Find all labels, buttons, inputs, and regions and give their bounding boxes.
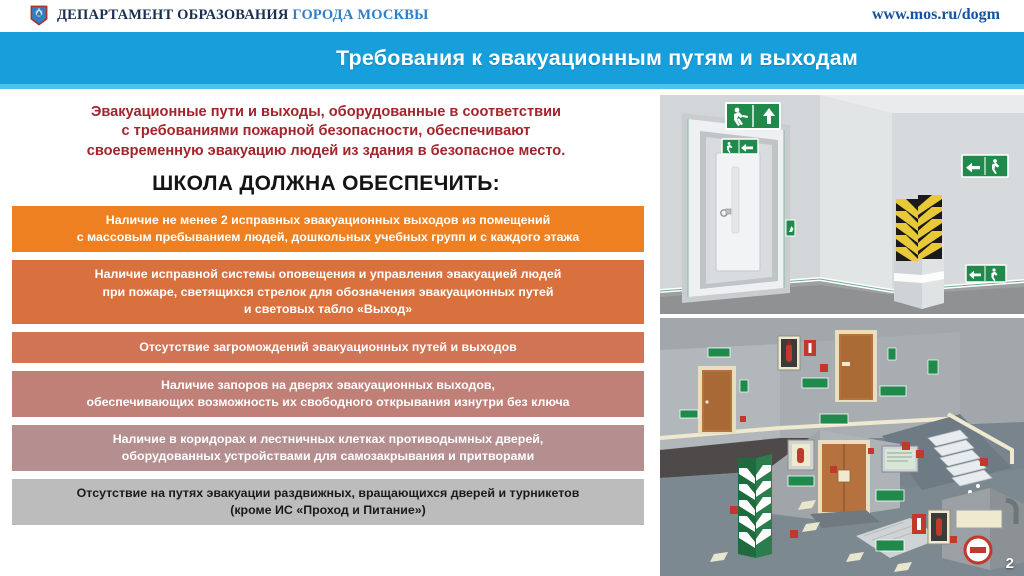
exit-sign-top	[726, 103, 780, 129]
illustration-column: 2	[660, 95, 1024, 576]
requirement-line: (кроме ИС «Проход и Питание»)	[77, 502, 580, 519]
requirement-line: обеспечивающих возможность их свободного…	[86, 394, 569, 411]
moscow-coat-of-arms-icon	[30, 5, 48, 26]
organization-name: ДЕПАРТАМЕНТ ОБРАЗОВАНИЯ ГОРОДА МОСКВЫ	[57, 7, 429, 24]
slide: ДЕПАРТАМЕНТ ОБРАЗОВАНИЯ ГОРОДА МОСКВЫ ww…	[0, 0, 1024, 576]
requirement-line: Наличие в коридорах и лестничных клетках…	[113, 431, 544, 448]
section-subheading: ШКОЛА ДОЛЖНА ОБЕСПЕЧИТЬ:	[0, 172, 652, 196]
intro-line-1: Эвакуационные пути и выходы, оборудованн…	[14, 103, 638, 122]
isometric-building-evacuation-illustration: 2	[660, 318, 1024, 576]
corridor-evacuation-exit-illustration	[660, 95, 1024, 314]
intro-line-2: с требованиями пожарной безопасности, об…	[14, 122, 638, 141]
requirements-list: Наличие не менее 2 исправных эвакуационн…	[0, 206, 652, 525]
intro-line-3: своевременную эвакуацию людей из здания …	[14, 142, 638, 161]
requirement-line: Отсутствие загромождений эвакуационных п…	[139, 339, 517, 356]
requirement-line: с массовым пребыванием людей, дошкольных…	[77, 229, 580, 246]
requirement-line: Отсутствие на путях эвакуации раздвижных…	[77, 485, 580, 502]
requirement-line: и световых табло «Выход»	[95, 301, 562, 318]
title-band-underline	[0, 84, 1024, 89]
requirement-line: Наличие исправной системы оповещения и у…	[95, 266, 562, 283]
exit-sign-lower-right	[966, 265, 1006, 282]
requirement-row-smoke-doors: Наличие в коридорах и лестничных клетках…	[12, 425, 644, 471]
requirement-line: при пожаре, светящихся стрелок для обозн…	[95, 284, 562, 301]
exit-sign-inner	[722, 139, 758, 154]
organization-name-part1: ДЕПАРТАМЕНТ ОБРАЗОВАНИЯ	[57, 7, 292, 23]
requirement-row-door-locks: Наличие запоров на дверях эвакуационных …	[12, 371, 644, 417]
requirement-row-alarm-system: Наличие исправной системы оповещения и у…	[12, 260, 644, 323]
website-url[interactable]: www.mos.ru/dogm	[872, 6, 1000, 24]
content-column: Эвакуационные пути и выходы, оборудованн…	[0, 95, 652, 576]
chevron-column	[738, 454, 772, 558]
requirement-row-exits-count: Наличие не менее 2 исправных эвакуационн…	[12, 206, 644, 252]
hazard-stripe-column	[896, 195, 942, 265]
requirement-line: Наличие запоров на дверях эвакуационных …	[86, 377, 569, 394]
branding-bar: ДЕПАРТАМЕНТ ОБРАЗОВАНИЯ ГОРОДА МОСКВЫ ww…	[0, 0, 1024, 31]
brand-left-group: ДЕПАРТАМЕНТ ОБРАЗОВАНИЯ ГОРОДА МОСКВЫ	[30, 5, 429, 26]
title-band: Требования к эвакуационным путям и выход…	[0, 32, 1024, 84]
requirement-row-no-turnstiles: Отсутствие на путях эвакуации раздвижных…	[12, 479, 644, 525]
requirement-line: оборудованных устройствами для самозакры…	[113, 448, 544, 465]
exit-sign-right-wall	[962, 155, 1008, 177]
page-title: Требования к эвакуационным путям и выход…	[166, 46, 858, 71]
requirement-line: Наличие не менее 2 исправных эвакуационн…	[77, 212, 580, 229]
intro-paragraph: Эвакуационные пути и выходы, оборудованн…	[14, 103, 638, 161]
organization-name-part2: ГОРОДА МОСКВЫ	[292, 7, 428, 23]
page-number: 2	[1006, 555, 1014, 572]
requirement-row-no-obstructions: Отсутствие загромождений эвакуационных п…	[12, 332, 644, 363]
